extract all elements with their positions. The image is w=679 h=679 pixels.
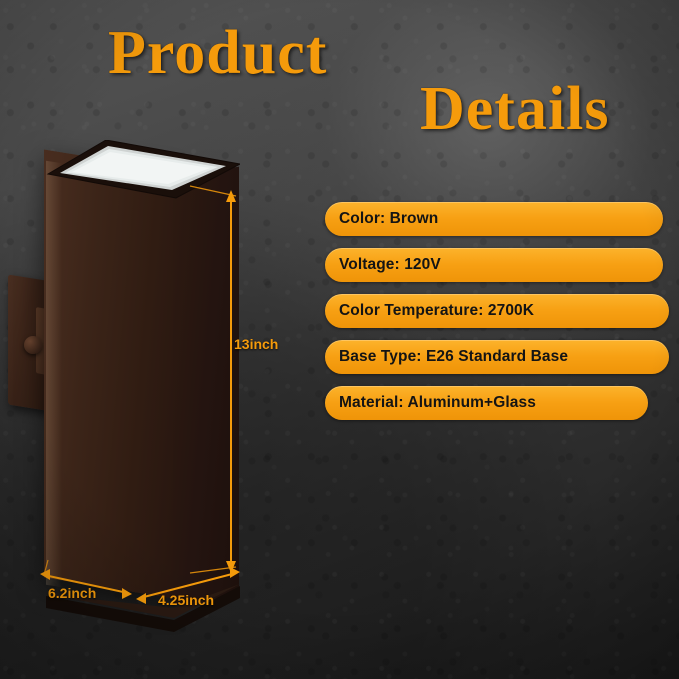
product-details-image: Product Details bbox=[0, 0, 679, 679]
spec-item-base-type: Base Type: E26 Standard Base bbox=[325, 340, 669, 374]
spec-item-color-label: Color: Brown bbox=[339, 210, 438, 228]
product-photo bbox=[0, 120, 320, 640]
page-title-line-1: Product bbox=[108, 18, 327, 89]
lamp-body-front bbox=[44, 149, 174, 598]
spec-item-color-temperature-label: Color Temperature: 2700K bbox=[339, 302, 534, 320]
mount-knob bbox=[24, 336, 42, 354]
spec-item-material: Material: Aluminum+Glass bbox=[325, 386, 648, 420]
lamp-top-diffuser bbox=[44, 140, 240, 196]
spec-item-color: Color: Brown bbox=[325, 202, 663, 236]
page-title-line-2: Details bbox=[420, 74, 610, 145]
lamp-body-side bbox=[173, 167, 239, 606]
lamp-body-highlight bbox=[46, 161, 62, 588]
spec-item-voltage-label: Voltage: 120V bbox=[339, 256, 441, 274]
spec-list: Color: Brown Voltage: 120V Color Tempera… bbox=[325, 202, 669, 432]
spec-item-voltage: Voltage: 120V bbox=[325, 248, 663, 282]
lamp-bottom-face bbox=[44, 576, 240, 636]
spec-item-color-temperature: Color Temperature: 2700K bbox=[325, 294, 669, 328]
spec-item-material-label: Material: Aluminum+Glass bbox=[339, 394, 536, 412]
spec-item-base-type-label: Base Type: E26 Standard Base bbox=[339, 348, 568, 366]
